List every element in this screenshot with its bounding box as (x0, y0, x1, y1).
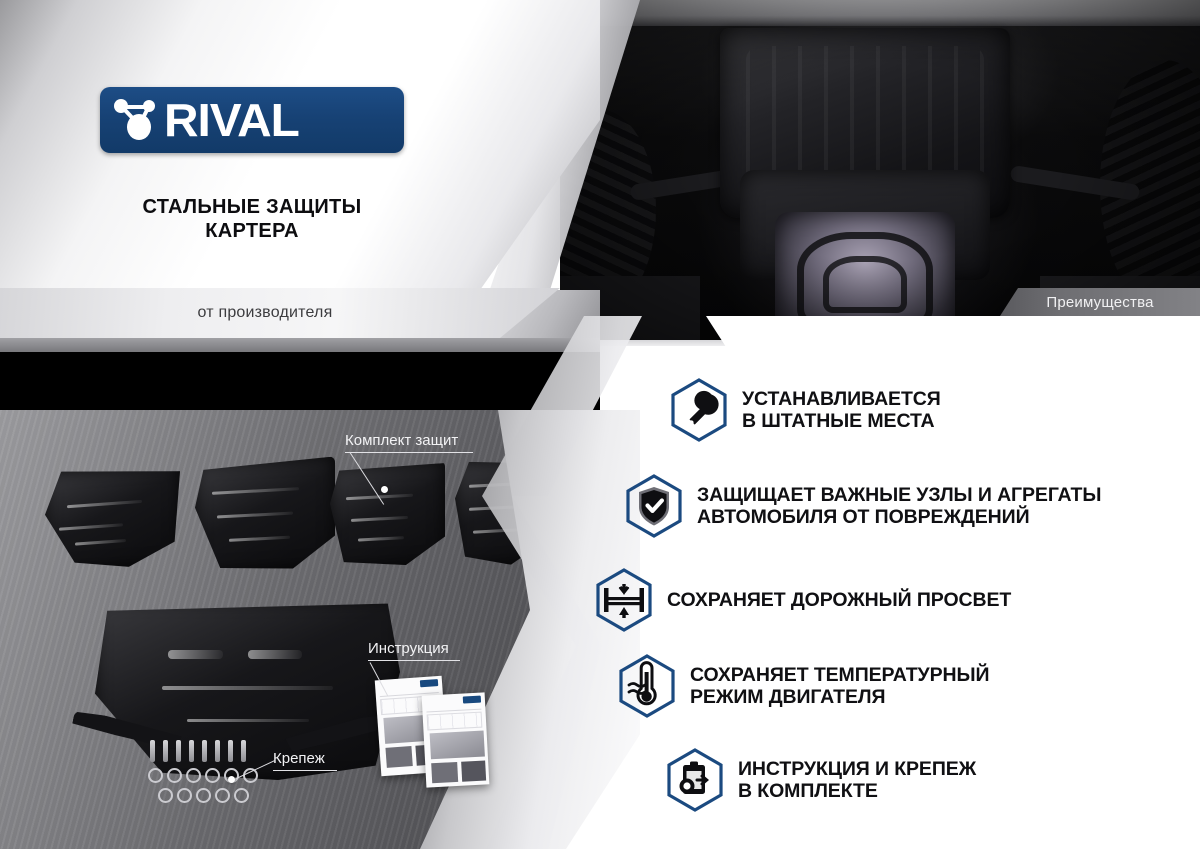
divider-black-band (0, 352, 600, 410)
benefit-2-text: ЗАЩИЩАЕТ ВАЖНЫЕ УЗЛЫ И АГРЕГАТЫ АВТОМОБИ… (697, 484, 1101, 529)
page-title-line1: СТАЛЬНЫЕ ЗАЩИТЫ (100, 196, 404, 220)
page-title-line2: КАРТЕРА (100, 220, 404, 244)
benefit-item-3[interactable]: СОХРАНЯЕТ ДОРОЖНЫЙ ПРОСВЕТ (595, 568, 1011, 632)
benefit-1-text: УСТАНАВЛИВАЕТСЯ В ШТАТНЫЕ МЕСТА (742, 388, 941, 433)
callout-kit-dot (381, 486, 388, 493)
benefit-item-1[interactable]: УСТАНАВЛИВАЕТСЯ В ШТАТНЫЕ МЕСТА (670, 378, 941, 442)
callout-kit: Комплект защит (345, 432, 473, 453)
callout-fasteners-dot (228, 776, 235, 783)
benefit-3-line1: СОХРАНЯЕТ ДОРОЖНЫЙ ПРОСВЕТ (667, 589, 1011, 611)
shield-check-icon (625, 474, 683, 538)
advantages-tab[interactable]: Преимущества (1000, 288, 1200, 316)
benefit-2-line2: АВТОМОБИЛЯ ОТ ПОВРЕЖДЕНИЙ (697, 506, 1101, 528)
callout-kit-label: Комплект защит (345, 432, 458, 449)
benefit-5-line2: В КОМПЛЕКТЕ (738, 780, 976, 802)
thermometer-icon (618, 654, 676, 718)
ground-clearance-icon (595, 568, 653, 632)
tagline-text: от производителя (198, 304, 333, 322)
benefit-4-text: СОХРАНЯЕТ ТЕМПЕРАТУРНЫЙ РЕЖИМ ДВИГАТЕЛЯ (690, 664, 989, 709)
benefit-3-text: СОХРАНЯЕТ ДОРОЖНЫЙ ПРОСВЕТ (667, 589, 1011, 611)
instruction-sheet-2 (422, 692, 490, 787)
poster-root: Преимущества (0, 0, 1200, 849)
benefits-list: УСТАНАВЛИВАЕТСЯ В ШТАТНЫЕ МЕСТА ЗАЩИЩАЕТ… (600, 316, 1200, 849)
callout-fasteners: Крепеж (273, 750, 337, 771)
callout-instruction-label: Инструкция (368, 640, 449, 657)
page-title: СТАЛЬНЫЕ ЗАЩИТЫ КАРТЕРА (100, 196, 404, 243)
benefit-item-4[interactable]: СОХРАНЯЕТ ТЕМПЕРАТУРНЫЙ РЕЖИМ ДВИГАТЕЛЯ (618, 654, 989, 718)
molecule-icon (108, 94, 166, 146)
benefit-item-5[interactable]: ИНСТРУКЦИЯ И КРЕПЕЖ В КОМПЛЕКТЕ (666, 748, 976, 812)
callout-instruction: Инструкция (368, 640, 460, 661)
rival-logo[interactable]: RIVAL (100, 87, 404, 153)
benefit-5-line1: ИНСТРУКЦИЯ И КРЕПЕЖ (738, 758, 976, 780)
benefit-item-2[interactable]: ЗАЩИЩАЕТ ВАЖНЫЕ УЗЛЫ И АГРЕГАТЫ АВТОМОБИ… (625, 474, 1101, 538)
benefit-4-line1: СОХРАНЯЕТ ТЕМПЕРАТУРНЫЙ (690, 664, 989, 686)
benefit-1-line2: В ШТАТНЫЕ МЕСТА (742, 410, 941, 432)
callout-fasteners-label: Крепеж (273, 750, 325, 767)
tagline-bar: от производителя (0, 288, 560, 338)
divider-gray-band (0, 338, 600, 352)
benefit-1-line1: УСТАНАВЛИВАЕТСЯ (742, 388, 941, 410)
rival-logo-text: RIVAL (164, 97, 299, 143)
clipboard-bolt-icon (666, 748, 724, 812)
wrench-icon (670, 378, 728, 442)
benefit-5-text: ИНСТРУКЦИЯ И КРЕПЕЖ В КОМПЛЕКТЕ (738, 758, 976, 803)
benefit-2-line1: ЗАЩИЩАЕТ ВАЖНЫЕ УЗЛЫ И АГРЕГАТЫ (697, 484, 1101, 506)
advantages-tab-label: Преимущества (1046, 294, 1153, 311)
benefit-4-line2: РЕЖИМ ДВИГАТЕЛЯ (690, 686, 989, 708)
